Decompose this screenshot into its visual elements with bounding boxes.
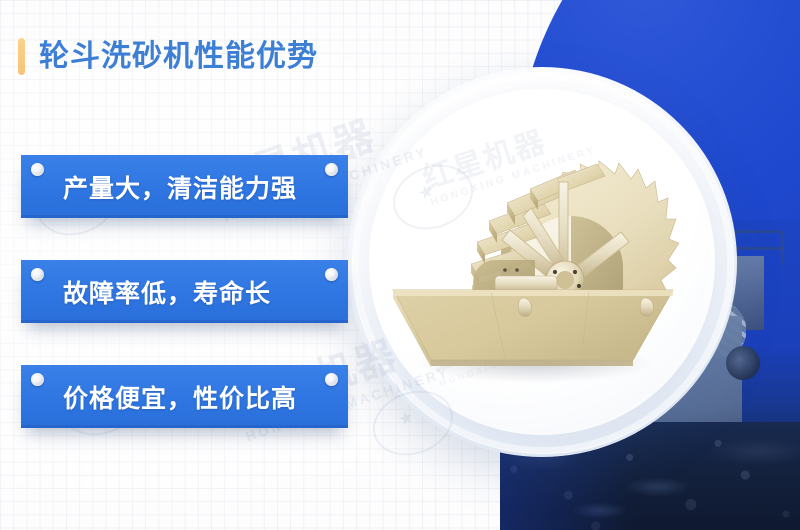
rivet-icon [31, 373, 44, 386]
washer-tub [393, 290, 673, 367]
sand-washer-illustration [383, 120, 683, 390]
poster-canvas: 红星机器 HONGXING MACHINERY 红星机器 HONGXING MA… [0, 0, 800, 530]
feature-list: 产量大，清洁能力强 故障率低，寿命长 价格便宜，性价比高 [21, 155, 348, 428]
rivet-icon [31, 163, 44, 176]
page-title: 轮斗洗砂机性能优势 [18, 38, 318, 75]
sand-washer-svg [383, 120, 683, 390]
title-text: 轮斗洗砂机性能优势 [39, 42, 318, 72]
rivet-icon [325, 163, 338, 176]
rivet-icon [31, 268, 44, 281]
rivet-icon [325, 268, 338, 281]
feature-plate-label: 产量大，清洁能力强 [63, 169, 297, 205]
feature-plate[interactable]: 故障率低，寿命长 [21, 260, 348, 323]
feature-plate-label: 故障率低，寿命长 [63, 274, 271, 310]
feature-plate-label: 价格便宜，性价比高 [63, 379, 297, 415]
feature-plate[interactable]: 产量大，清洁能力强 [21, 155, 348, 218]
feature-plate[interactable]: 价格便宜，性价比高 [21, 365, 348, 428]
title-accent-bar [18, 38, 25, 75]
rivet-icon [325, 373, 338, 386]
